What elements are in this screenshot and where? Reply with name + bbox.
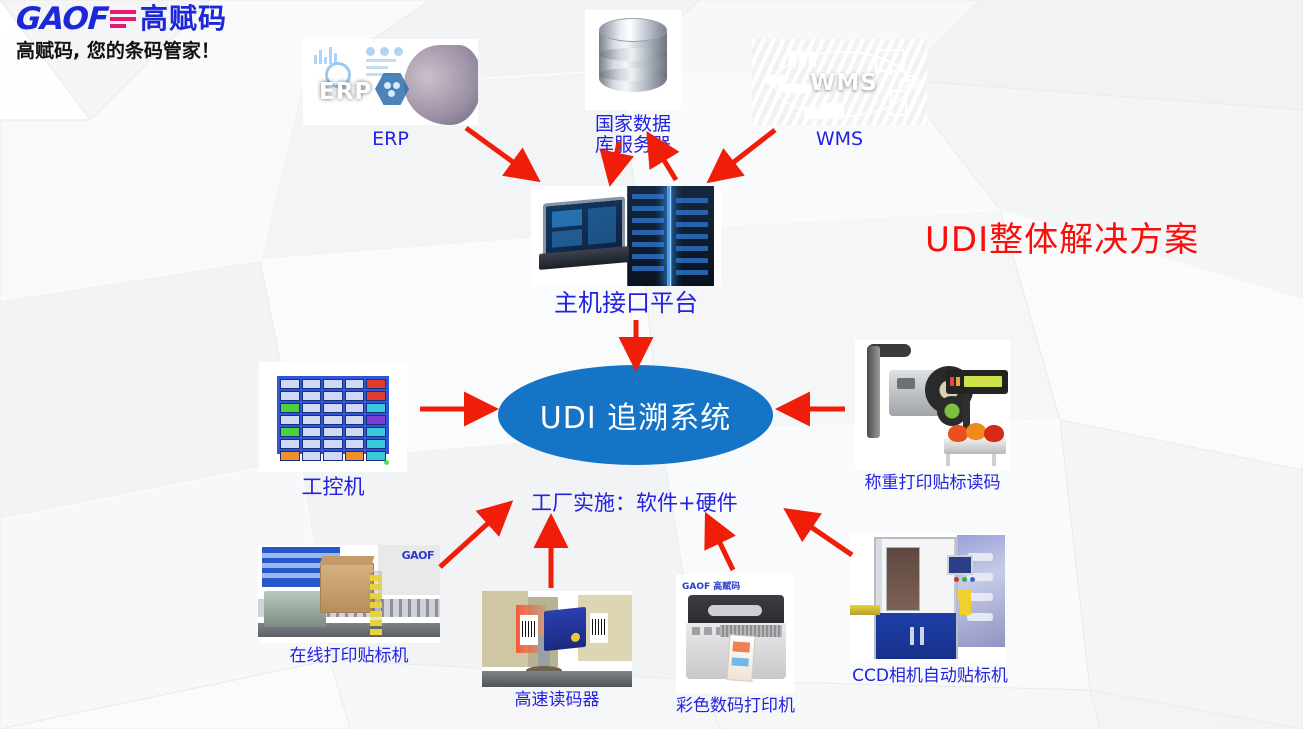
node-erp: ERP ERP xyxy=(303,39,478,150)
node-high-speed-reader-label: 高速读码器 xyxy=(482,691,632,710)
node-color-digital-printer-label: 彩色数码打印机 xyxy=(676,697,794,716)
node-erp-label: ERP xyxy=(303,129,478,150)
node-host-platform-label: 主机接口平台 xyxy=(531,290,721,317)
udi-traceability-system-node[interactable]: UDI 追溯系统 xyxy=(498,365,773,465)
industrial-hmi-photo xyxy=(259,362,407,472)
logo-wordmark: GAOF 高赋码 xyxy=(16,3,256,35)
logo-tagline: 高赋码, 您的条码管家！ xyxy=(16,36,256,63)
node-ccd-auto-labeller: CCD相机自动贴标机 xyxy=(850,533,1010,686)
node-industrial-pc: 工控机 xyxy=(259,362,407,500)
node-color-digital-printer: GAOF 高赋码 彩色数码打印机 xyxy=(676,575,794,716)
node-wms-label: WMS xyxy=(752,129,927,150)
erp-photo-text: ERP xyxy=(319,79,372,105)
node-online-print-labeller-label: 在线打印贴标机 xyxy=(258,647,440,666)
node-national-database: 国家数据 库服务器 xyxy=(585,10,681,157)
node-national-database-label-line2: 库服务器 xyxy=(585,135,681,156)
barcode-reader-photo xyxy=(482,591,632,687)
udi-ellipse-label: UDI 追溯系统 xyxy=(540,393,731,437)
barcode-icon xyxy=(110,10,136,28)
wms-photo-text: WMS xyxy=(810,70,878,96)
factory-implementation-label: 工厂实施：软件+硬件 xyxy=(531,487,738,517)
wms-photo: WMS xyxy=(752,39,927,125)
brand-logo: GAOF 高赋码 高赋码, 您的条码管家！ xyxy=(16,3,256,65)
node-online-print-labeller: GAOF 在线打印贴标机 xyxy=(258,545,440,666)
logo-chinese-text: 高赋码 xyxy=(140,5,227,33)
node-weigh-label-read: 称重打印贴标读码 xyxy=(855,340,1010,493)
database-cylinder-icon xyxy=(585,10,681,110)
server-room-photo xyxy=(531,186,721,286)
weigh-labeller-photo xyxy=(855,340,1010,470)
ccd-labeller-photo xyxy=(850,533,1005,663)
node-ccd-auto-labeller-label: CCD相机自动贴标机 xyxy=(850,667,1010,686)
node-national-database-label-line1: 国家数据 xyxy=(585,114,681,135)
page-title: UDI整体解决方案 xyxy=(925,212,1199,261)
conveyor-labeller-photo: GAOF xyxy=(258,545,440,643)
color-printer-photo: GAOF 高赋码 xyxy=(676,575,794,693)
node-high-speed-reader: 高速读码器 xyxy=(482,591,632,710)
printer-overlay-logo: GAOF 高赋码 xyxy=(682,579,740,592)
erp-photo: ERP xyxy=(303,39,478,125)
node-industrial-pc-label: 工控机 xyxy=(259,476,407,500)
node-host-platform: 主机接口平台 xyxy=(531,186,721,317)
node-wms: WMS WMS xyxy=(752,39,927,150)
slide-canvas: GAOF 高赋码 高赋码, 您的条码管家！ UDI整体解决方案 ERP ERP … xyxy=(0,0,1303,729)
conveyor-overlay-logo: GAOF xyxy=(402,549,434,562)
logo-latin-text: GAOF xyxy=(15,1,110,37)
node-weigh-label-read-label: 称重打印贴标读码 xyxy=(855,474,1010,493)
